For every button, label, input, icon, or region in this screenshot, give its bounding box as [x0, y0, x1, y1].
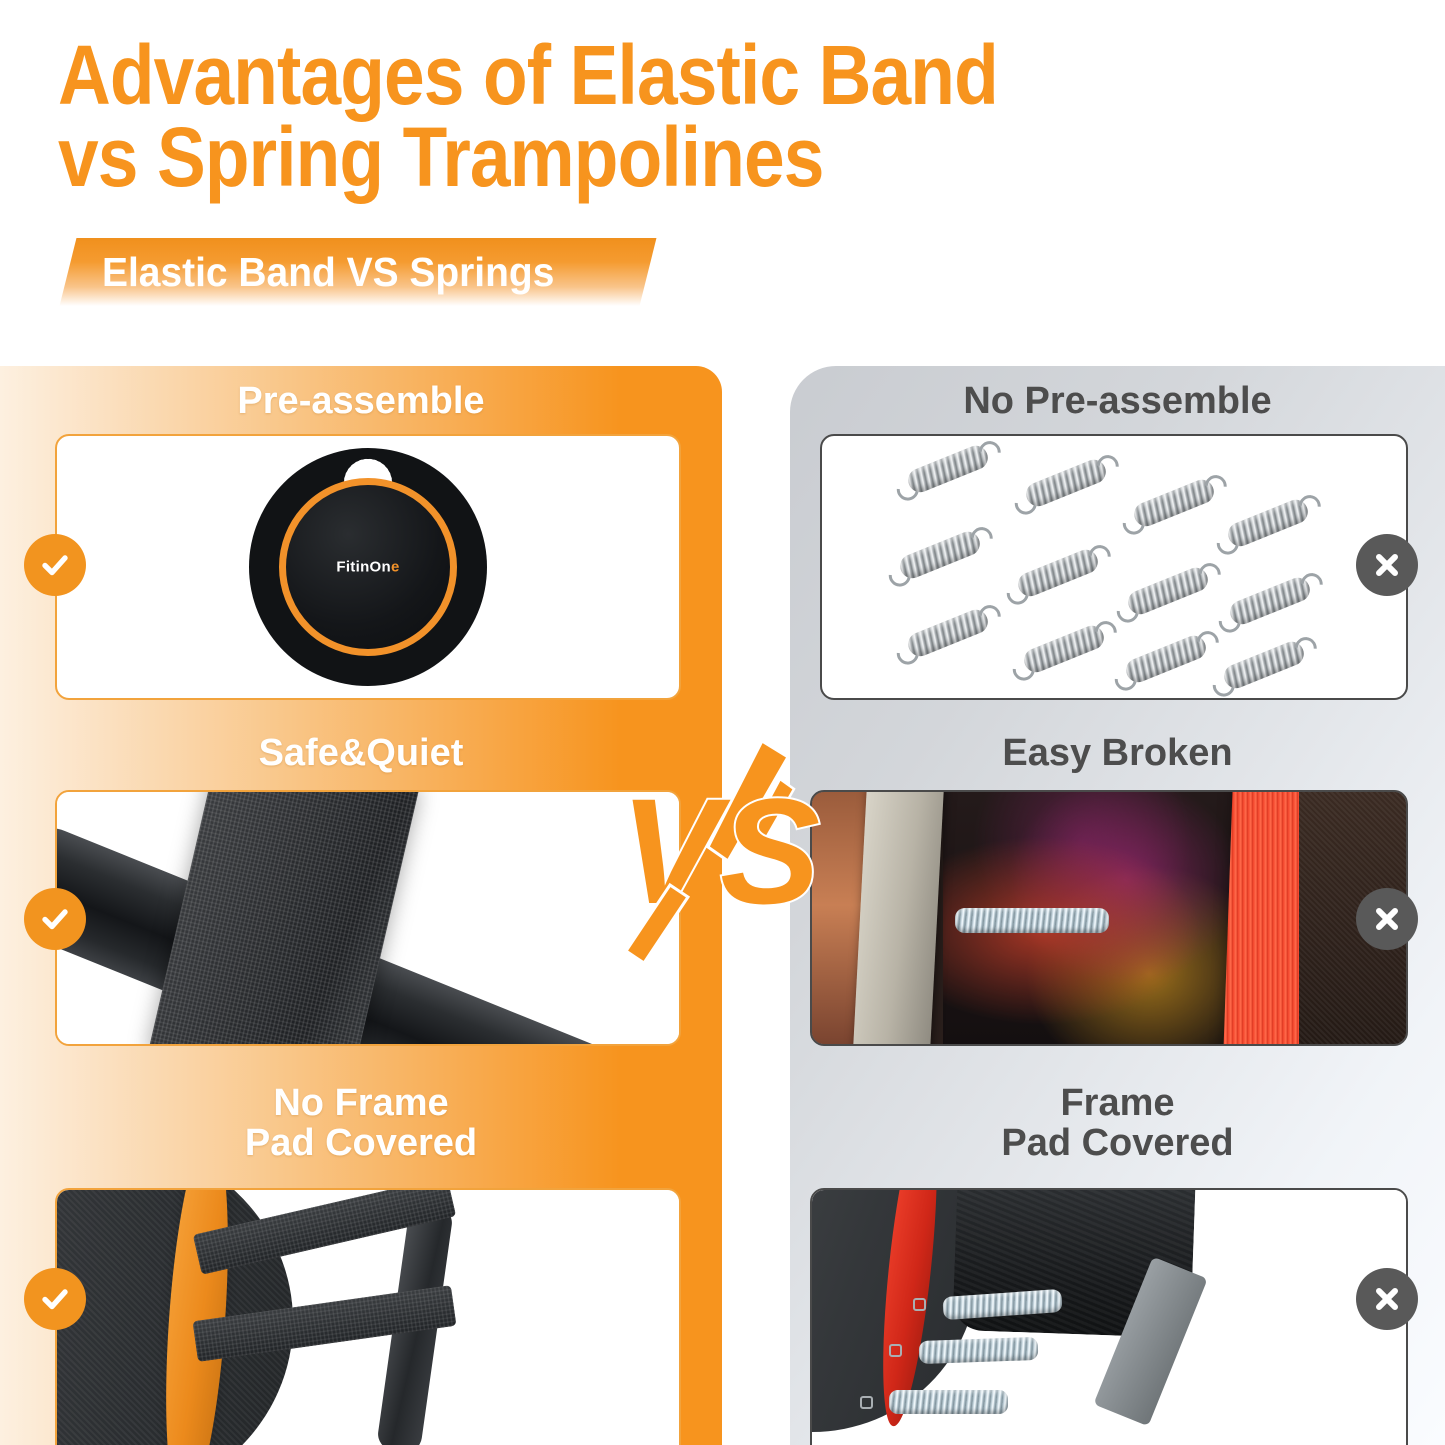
- left-row-1-heading: Pre-assemble: [0, 382, 722, 422]
- metal-spring: [1006, 614, 1121, 684]
- left-row-2-image-card: [55, 790, 681, 1046]
- metal-spring: [882, 520, 997, 590]
- frame-beam: [852, 792, 944, 1044]
- brand-logo-prefix: FitinOn: [336, 559, 391, 576]
- mat-with-orange-trim-image: [57, 1190, 679, 1445]
- comparison-panel-spring: No Pre-assemble Easy Broken Frame Pad Co…: [790, 366, 1445, 1445]
- check-icon: [24, 1268, 86, 1330]
- spring-hook: [889, 1344, 902, 1357]
- frayed-red-net: [1223, 792, 1310, 1044]
- comparison-panel-elastic-band: Pre-assemble FitinOne Safe&Quiet No Fram…: [0, 366, 722, 1445]
- left-row-1-image-card: FitinOne: [55, 434, 681, 700]
- metal-spring: [1000, 538, 1115, 608]
- metal-spring: [1108, 624, 1223, 694]
- right-row-2-heading: Easy Broken: [790, 734, 1445, 774]
- right-row-2-image-card: [810, 790, 1408, 1046]
- right-row-1-image-card: [820, 434, 1408, 700]
- left-row-3-heading: No Frame Pad Covered: [0, 1084, 722, 1163]
- metal-spring: [919, 1337, 1039, 1364]
- metal-spring: [1008, 448, 1123, 518]
- metal-spring: [1206, 630, 1321, 700]
- trampoline-exposed-springs-image: [812, 1190, 1406, 1445]
- left-row-2-heading: Safe&Quiet: [0, 734, 722, 774]
- right-row-1-heading: No Pre-assemble: [790, 382, 1445, 422]
- x-icon: [1356, 1268, 1418, 1330]
- spring-hook: [860, 1396, 873, 1409]
- metal-spring: [1110, 556, 1225, 626]
- metal-spring: [1210, 488, 1325, 558]
- strap-wrapped-tube-image: [57, 792, 679, 1044]
- infographic-page: Advantages of Elastic Band vs Spring Tra…: [0, 0, 1445, 1445]
- broken-trampoline-image: [812, 792, 1406, 1044]
- subtitle-text: Elastic Band VS Springs: [102, 246, 554, 298]
- metal-spring: [890, 598, 1005, 668]
- metal-spring: [955, 908, 1109, 933]
- right-row-3-heading: Frame Pad Covered: [790, 1084, 1445, 1163]
- spring-hook: [913, 1298, 926, 1311]
- brand-logo-accent: e: [391, 559, 400, 576]
- loose-springs-image: [822, 436, 1406, 698]
- x-icon: [1356, 534, 1418, 596]
- page-title: Advantages of Elastic Band vs Spring Tra…: [58, 34, 1102, 199]
- right-row-3-image-card: [810, 1188, 1408, 1445]
- check-icon: [24, 888, 86, 950]
- left-row-3-image-card: [55, 1188, 681, 1445]
- check-icon: [24, 534, 86, 596]
- metal-spring: [890, 434, 1005, 504]
- subtitle-banner: Elastic Band VS Springs: [68, 238, 648, 306]
- metal-spring: [889, 1390, 1008, 1413]
- x-icon: [1356, 888, 1418, 950]
- brand-logo: FitinOne: [336, 559, 399, 576]
- trampoline-top-view-image: FitinOne: [249, 448, 487, 686]
- metal-spring: [1212, 566, 1327, 636]
